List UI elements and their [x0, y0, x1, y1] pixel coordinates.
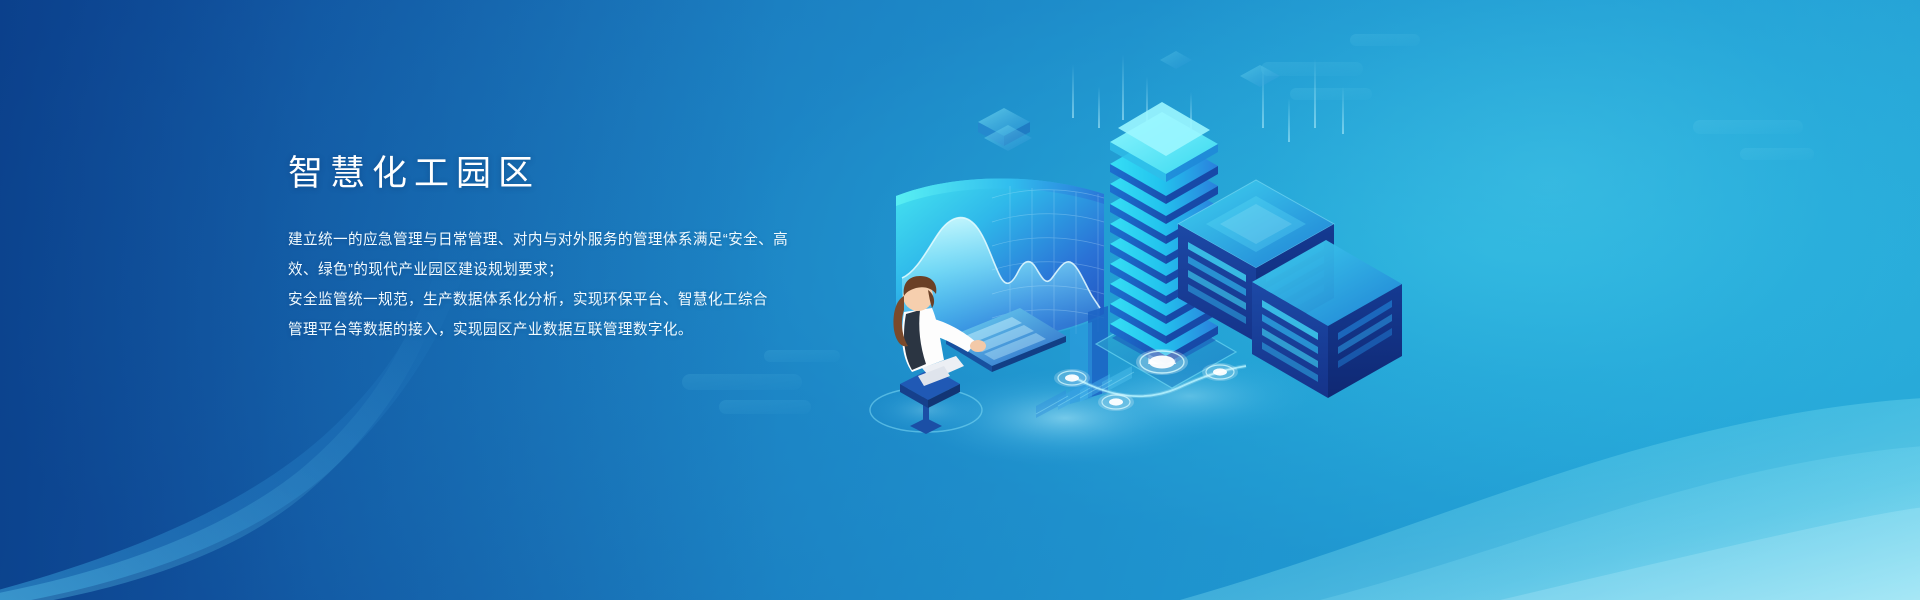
hero-illustration [860, 46, 1420, 466]
description-line: 建立统一的应急管理与日常管理、对内与对外服务的管理体系满足“安全、高 [288, 225, 888, 255]
isometric-scene [860, 46, 1420, 466]
glow-node [1054, 369, 1090, 387]
glow-node [1098, 393, 1134, 411]
description-line: 安全监管统一规范，生产数据体系化分析，实现环保平台、智慧化工综合 [288, 285, 888, 315]
description-line: 管理平台等数据的接入，实现园区产业数据互联管理数字化。 [288, 315, 888, 345]
data-rain [1072, 54, 1344, 142]
banner-copy: 智慧化工园区 建立统一的应急管理与日常管理、对内与对外服务的管理体系满足“安全、… [288, 152, 888, 345]
glow-node [1202, 363, 1238, 381]
person-hand [970, 340, 986, 352]
page-title: 智慧化工园区 [288, 152, 888, 196]
description-line: 效、绿色”的现代产业园区建设规划要求； [288, 255, 888, 285]
hero-banner: 智慧化工园区 建立统一的应急管理与日常管理、对内与对外服务的管理体系满足“安全、… [0, 0, 1920, 600]
banner-description: 建立统一的应急管理与日常管理、对内与对外服务的管理体系满足“安全、高 效、绿色”… [288, 225, 888, 345]
